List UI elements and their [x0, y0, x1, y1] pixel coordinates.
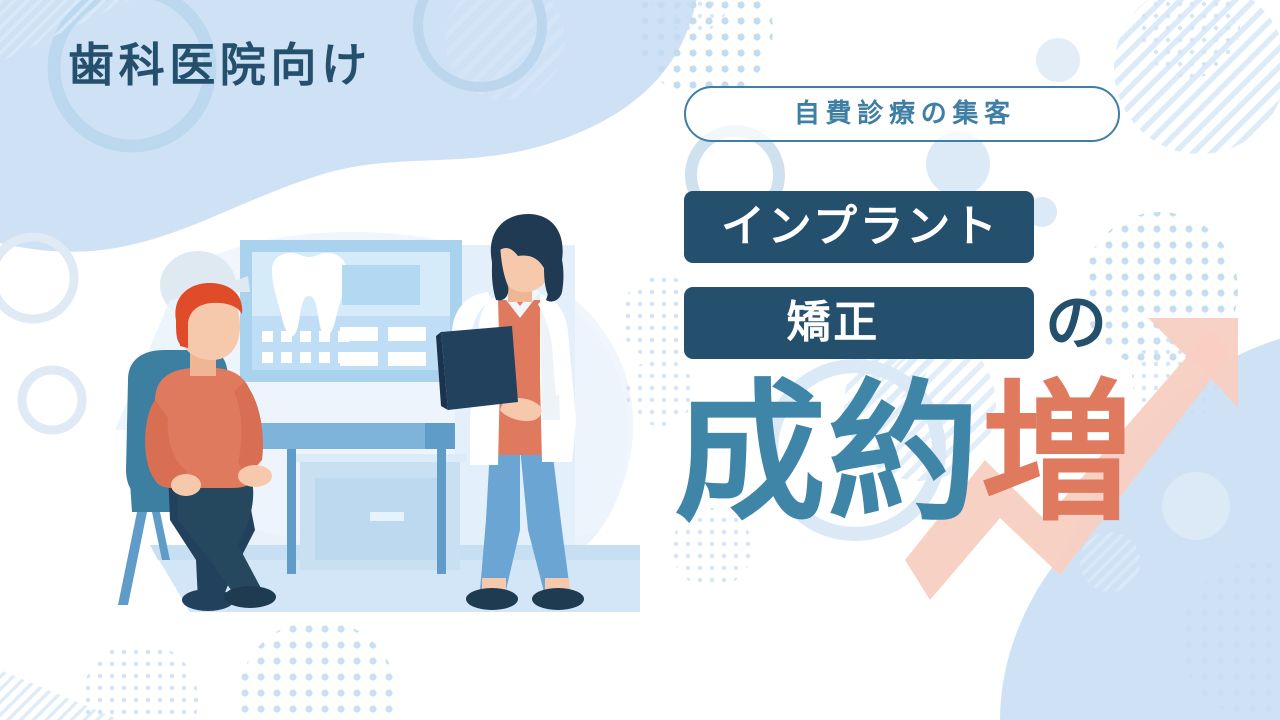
headline: 成約増	[674, 378, 1135, 530]
xray-block	[342, 265, 420, 305]
patient-shoe-front	[224, 586, 276, 608]
tag-badge-implant: インプラント	[684, 191, 1034, 263]
pill-badge-label: 自費診療の集客	[788, 101, 1016, 127]
tablet-device	[441, 326, 518, 410]
desk-leg-left	[287, 449, 296, 574]
cabinet-handle	[370, 512, 404, 521]
desk-top-right	[425, 423, 455, 449]
patient-hand-left	[171, 474, 201, 496]
patient-hand-right	[238, 465, 272, 487]
desk-leg-right	[437, 449, 446, 574]
tag-badge-orthodontics: 矯正	[684, 287, 1034, 359]
tag-badge-orthodontics-label: 矯正	[784, 301, 880, 345]
banner-canvas: 歯科医院向け 自費診療の集客 インプラント 矯正 の 成約増	[0, 0, 1280, 720]
headline-part-accent: 増	[981, 378, 1135, 530]
headline-part-primary: 成約	[674, 378, 981, 530]
right-content-column: 自費診療の集客 インプラント 矯正 の 成約増	[660, 0, 1280, 720]
tag-badge-implant-label: インプラント	[718, 205, 999, 249]
connector-particle: の	[1045, 292, 1107, 354]
chair-leg-1	[118, 512, 147, 605]
dentist-shoe-left	[466, 588, 518, 610]
dentist-shoe-right	[532, 588, 584, 610]
pill-badge: 自費診療の集客	[684, 86, 1120, 142]
kicker-text: 歯科医院向け	[68, 42, 372, 88]
